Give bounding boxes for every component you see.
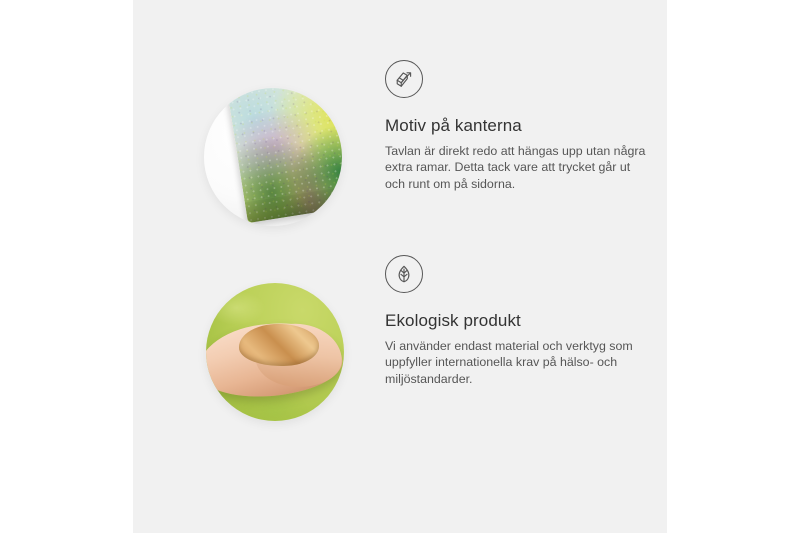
feature-image-wrapper-2 (206, 283, 344, 421)
feature-text-column-2: Ekologisk produkt Vi använder endast mat… (385, 255, 655, 387)
leaf-icon (385, 255, 423, 293)
feature-title: Ekologisk produkt (385, 311, 655, 331)
feature-text-column-1: Motiv på kanterna Tavlan är direkt redo … (385, 60, 655, 192)
feature-description: Tavlan är direkt redo att hängas upp uta… (385, 143, 647, 192)
feature-description: Vi använder endast material och verktyg … (385, 338, 647, 387)
hands-holding-wood-chips-photo (206, 283, 344, 421)
wood-chip-texture (239, 324, 319, 365)
wood-chips (239, 324, 319, 365)
feature-title: Motiv på kanterna (385, 116, 655, 136)
product-feature-infographic: Motiv på kanterna Tavlan är direkt redo … (0, 0, 800, 533)
canvas-wrapped-edge-icon (385, 60, 423, 98)
painted-canvas-corner-photo (204, 88, 342, 226)
feature-image-wrapper-1 (204, 88, 342, 226)
feature-block-ekologisk-produkt: Ekologisk produkt Vi använder endast mat… (133, 255, 667, 455)
canvas-corner-shape (228, 88, 342, 224)
feature-block-motiv-pa-kanterna: Motiv på kanterna Tavlan är direkt redo … (133, 60, 667, 260)
